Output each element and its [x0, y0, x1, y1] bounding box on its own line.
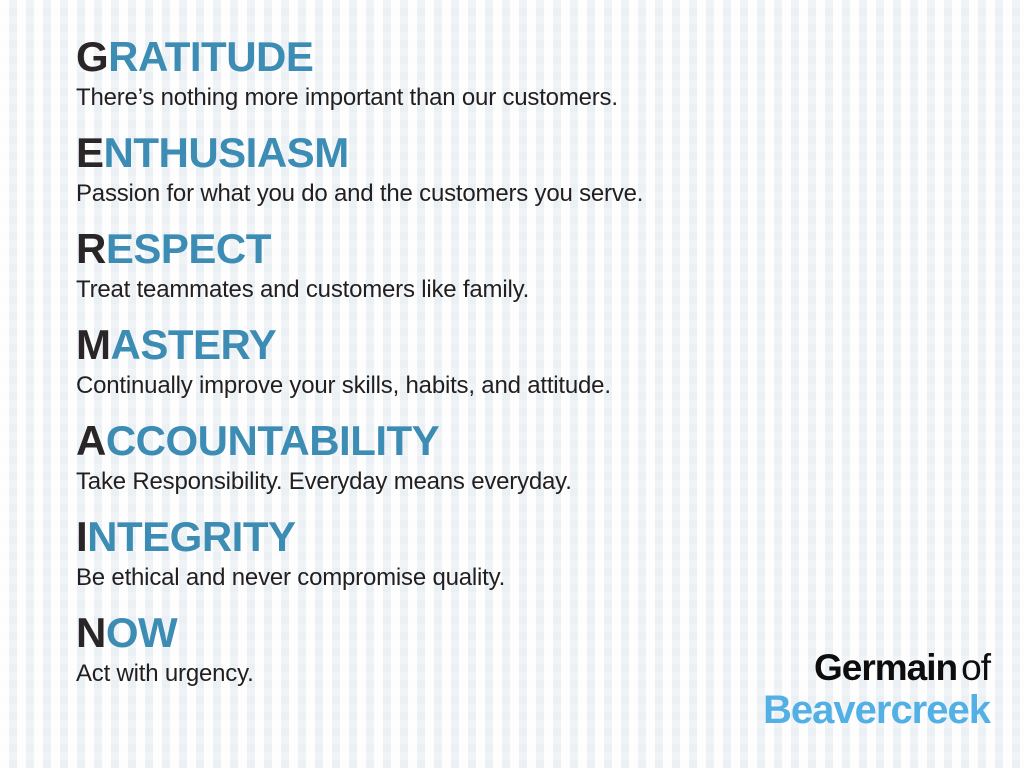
- dealership-logo: Germainof Beavercreek: [763, 648, 990, 732]
- core-values-list: GRATITUDE There’s nothing more important…: [76, 34, 976, 706]
- value-initial-now: N: [76, 609, 106, 656]
- value-heading-gratitude: GRATITUDE: [76, 34, 976, 80]
- value-initial-gratitude: G: [76, 33, 108, 80]
- value-heading-accountability: ACCOUNTABILITY: [76, 418, 976, 464]
- logo-location: Beavercreek: [763, 688, 990, 732]
- value-item-respect: RESPECT Treat teammates and customers li…: [76, 226, 976, 305]
- logo-connector: of: [961, 647, 990, 688]
- value-item-enthusiasm: ENTHUSIASM Passion for what you do and t…: [76, 130, 976, 209]
- value-initial-integrity: I: [76, 513, 87, 560]
- value-initial-respect: R: [76, 225, 106, 272]
- value-rest-respect: ESPECT: [106, 225, 271, 272]
- value-heading-respect: RESPECT: [76, 226, 976, 272]
- value-description-respect: Treat teammates and customers like famil…: [76, 275, 976, 305]
- value-item-mastery: MASTERY Continually improve your skills,…: [76, 322, 976, 401]
- value-rest-now: OW: [106, 609, 177, 656]
- logo-top-line: Germainof: [763, 648, 990, 688]
- value-rest-accountability: CCOUNTABILITY: [106, 417, 439, 464]
- value-item-gratitude: GRATITUDE There’s nothing more important…: [76, 34, 976, 113]
- value-initial-mastery: M: [76, 321, 111, 368]
- value-initial-accountability: A: [76, 417, 106, 464]
- value-rest-mastery: ASTERY: [111, 321, 277, 368]
- value-item-integrity: INTEGRITY Be ethical and never compromis…: [76, 514, 976, 593]
- value-item-accountability: ACCOUNTABILITY Take Responsibility. Ever…: [76, 418, 976, 497]
- value-description-integrity: Be ethical and never compromise quality.: [76, 563, 976, 593]
- logo-brand-name: Germain: [814, 647, 957, 688]
- values-poster: GRATITUDE There’s nothing more important…: [0, 0, 1024, 768]
- value-description-gratitude: There’s nothing more important than our …: [76, 83, 976, 113]
- value-description-accountability: Take Responsibility. Everyday means ever…: [76, 467, 976, 497]
- value-rest-enthusiasm: NTHUSIASM: [104, 129, 349, 176]
- value-heading-mastery: MASTERY: [76, 322, 976, 368]
- value-heading-enthusiasm: ENTHUSIASM: [76, 130, 976, 176]
- value-description-enthusiasm: Passion for what you do and the customer…: [76, 179, 976, 209]
- value-description-mastery: Continually improve your skills, habits,…: [76, 371, 976, 401]
- value-initial-enthusiasm: E: [76, 129, 104, 176]
- value-rest-integrity: NTEGRITY: [87, 513, 295, 560]
- value-rest-gratitude: RATITUDE: [108, 33, 313, 80]
- value-heading-integrity: INTEGRITY: [76, 514, 976, 560]
